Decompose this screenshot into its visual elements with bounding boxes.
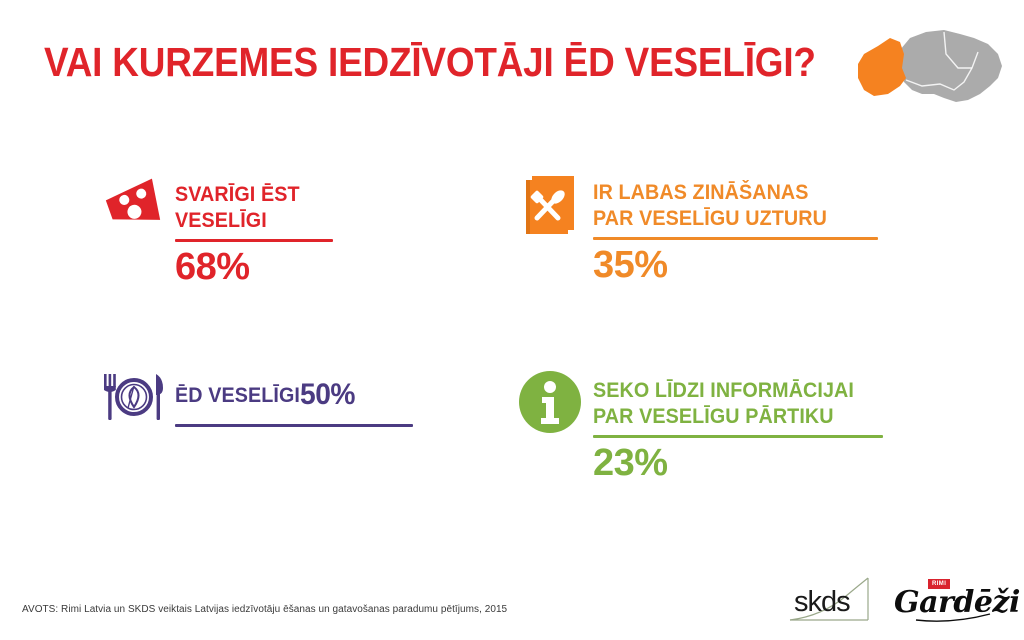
gardezi-underline-flourish [892,576,998,624]
info-circle-icon [518,370,582,439]
stat-label-line-2: PAR VESELĪGU UZTURU [593,206,861,232]
stat-label-line-1: ĒD VESELĪGI50% [175,380,399,410]
stat-label-line-1: IR LABAS ZINĀŠANAS [593,180,861,206]
stat-percent-important: 68% [175,246,333,288]
skds-logo: skds [788,576,874,624]
stat-label-line-2: PAR VESELĪGU PĀRTIKU [593,404,866,430]
map-base-region [900,30,1002,102]
stat-body-knowledge: IR LABAS ZINĀŠANAS PAR VESELĪGU UZTURU 3… [593,180,878,286]
stat-percent-eats: 50% [300,378,355,411]
stat-label-line-1: SVARĪGI ĒST [175,182,324,208]
stat-label-line-1: SEKO LĪDZI INFORMĀCIJAI [593,378,866,404]
stat-block-important: SVARĪGI ĒST VESELĪGI 68% [100,176,460,296]
source-note: AVOTS: Rimi Latvia un SKDS veiktais Latv… [22,604,507,615]
stat-percent-knowledge: 35% [593,244,878,286]
stat-block-knowledge: IR LABAS ZINĀŠANAS PAR VESELĪGU UZTURU 3… [520,172,920,297]
stat-underline [593,237,878,240]
stat-body-eats: ĒD VESELĪGI50% [175,380,413,427]
stat-underline [593,435,883,438]
plate-cutlery-icon [100,368,168,431]
stat-underline [175,424,413,427]
page-title: VAI KURZEMES IEDZĪVOTĀJI ĒD VESELĪGI? [44,38,816,86]
stat-body-follows: SEKO LĪDZI INFORMĀCIJAI PAR VESELĪGU PĀR… [593,378,883,484]
stat-block-follows: SEKO LĪDZI INFORMĀCIJAI PAR VESELĪGU PĀR… [518,370,918,495]
stat-body-important: SVARĪGI ĒST VESELĪGI 68% [175,182,333,288]
skds-logo-text: skds [794,588,850,617]
stat-label-text: ĒD VESELĪGI [175,384,300,407]
latvia-map [848,24,1008,108]
gardezi-logo: RIMI Gardēži [892,576,998,624]
recipe-book-icon [520,172,582,241]
logo-group: skds RIMI Gardēži [788,572,998,624]
stat-block-eats: ĒD VESELĪGI50% [100,368,440,443]
stat-percent-follows: 23% [593,442,883,484]
cheese-wedge-icon [100,176,166,241]
stat-underline [175,239,333,242]
stat-label-line-2: VESELĪGI [175,208,324,234]
map-kurzeme-region [858,38,906,96]
